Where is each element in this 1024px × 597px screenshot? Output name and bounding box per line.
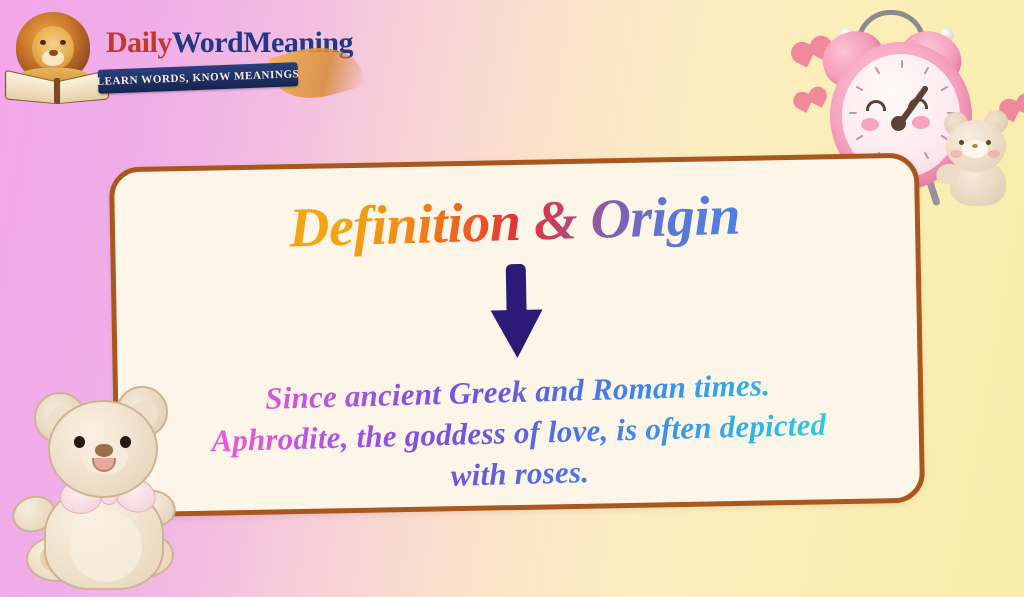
mini-bear-nose	[972, 144, 978, 148]
teddy-eye-right	[120, 436, 131, 448]
logo-word-daily: Daily	[106, 26, 172, 59]
mini-bear-cheek-right	[988, 150, 1000, 158]
teddy-nose	[95, 444, 113, 457]
clock-tick	[856, 86, 864, 92]
logo-tagline-ribbon: LEARN WORDS, KNOW MEANINGS	[98, 62, 299, 94]
mini-bear-muzzle	[962, 140, 988, 158]
poster-canvas: DailyWordMeaning LEARN WORDS, KNOW MEANI…	[0, 0, 1024, 597]
down-arrow-icon	[488, 263, 546, 358]
book-spine	[54, 78, 60, 104]
logo-word-word: Word	[172, 26, 243, 59]
card-body-text: Since ancient Greek and Roman times. Aph…	[197, 363, 840, 503]
clock-tick	[924, 67, 930, 75]
teddy-eye-left	[74, 436, 85, 448]
teddy-bear-illustration	[4, 378, 244, 597]
mini-bear-illustration	[940, 110, 1018, 204]
teddy-belly	[70, 510, 142, 582]
clock-tick	[849, 112, 857, 114]
clock-tick	[924, 151, 930, 159]
card-title: Definition & Origin	[289, 187, 742, 259]
clock-eye-left	[866, 100, 886, 111]
lion-eye-left	[40, 40, 46, 45]
heart-icon	[792, 80, 815, 103]
clock-tick	[901, 60, 903, 68]
lion-on-book-icon	[6, 6, 110, 110]
clock-hand-hub	[891, 116, 906, 131]
site-logo[interactable]: DailyWordMeaning LEARN WORDS, KNOW MEANI…	[6, 4, 284, 112]
lion-nose	[49, 50, 58, 56]
clock-tick	[856, 135, 864, 141]
clock-tick	[875, 67, 881, 75]
mini-bear-eye-right	[986, 140, 991, 145]
logo-tagline: LEARN WORDS, KNOW MEANINGS	[96, 68, 299, 88]
clock-tick	[940, 86, 948, 92]
logo-text-block: DailyWordMeaning LEARN WORDS, KNOW MEANI…	[106, 18, 284, 98]
clock-cheek-right	[912, 116, 930, 129]
arrow-head	[491, 309, 544, 358]
mini-bear-cheek-left	[950, 150, 962, 158]
mini-bear-eye-left	[959, 140, 964, 145]
clock-cheek-left	[861, 118, 879, 131]
lion-eye-right	[60, 40, 66, 45]
